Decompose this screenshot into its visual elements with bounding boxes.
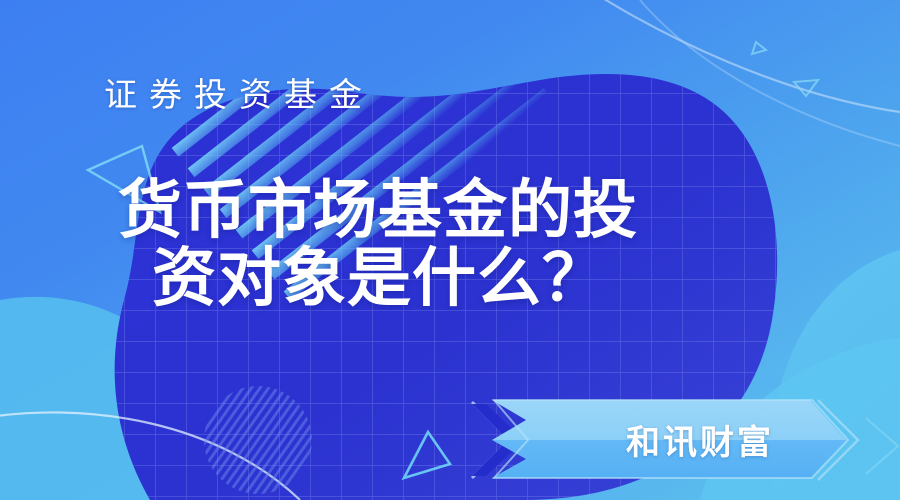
headline-line-1: 货币市场基金的投 [0, 176, 760, 244]
poster-subtitle: 证券投资基金 [104, 78, 374, 111]
striped-circle-bottom [204, 386, 312, 494]
poster-headline: 货币市场基金的投 资对象是什么？ [0, 176, 760, 313]
poster-canvas: 证券投资基金 货币市场基金的投 资对象是什么？ [0, 0, 900, 500]
headline-line-2: 资对象是什么？ [0, 244, 760, 312]
brand-banner: 和讯财富 [470, 396, 900, 482]
brand-banner-label: 和讯财富 [570, 396, 830, 482]
